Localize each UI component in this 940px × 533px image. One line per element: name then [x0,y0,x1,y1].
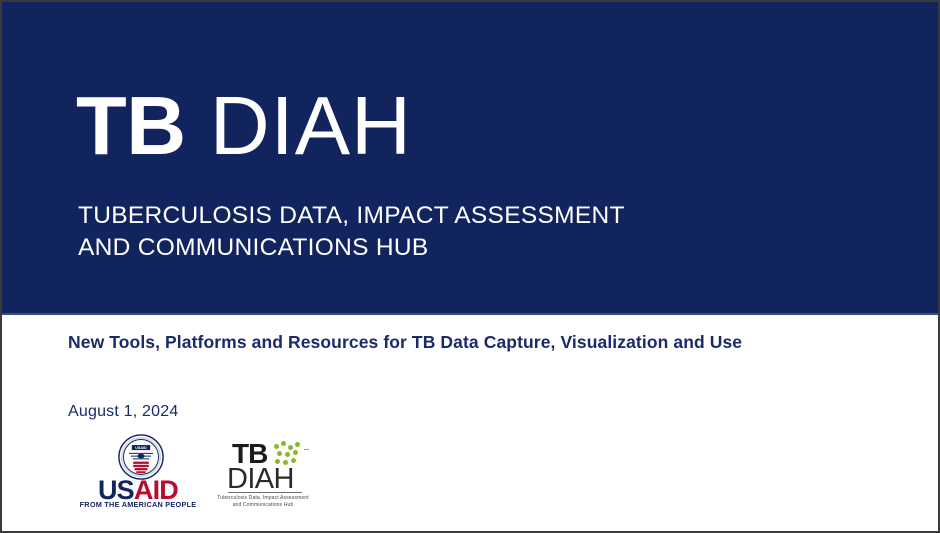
header-band: TB DIAH TUBERCULOSIS DATA, IMPACT ASSESS… [2,2,940,313]
brand-lockup: TB DIAH [76,84,412,167]
tb-diah-rule [228,492,302,493]
presentation-title: New Tools, Platforms and Resources for T… [68,332,742,353]
tb-diah-dash-icon [304,449,309,450]
brand-name-diah: DIAH [186,79,412,172]
usaid-tagline: FROM THE AMERICAN PEOPLE [78,501,198,508]
presentation-date: August 1, 2024 [68,403,178,421]
tb-diah-wordmark-diah: DIAH [227,465,294,494]
brand-subtitle: TUBERCULOSIS DATA, IMPACT ASSESSMENT AND… [78,200,625,265]
logo-row: USAID USAID FROM THE AMERICAN PEOPLE [68,432,328,516]
usaid-seal-icon: USAID [118,434,164,480]
title-slide: TB DIAH TUBERCULOSIS DATA, IMPACT ASSESS… [0,0,940,533]
usaid-logo: USAID USAID FROM THE AMERICAN PEOPLE [78,432,198,514]
brand-name-tb: TB [76,79,186,172]
tb-diah-logo: TB DIAH Tuberculosis Data, Impact Assess… [216,440,316,516]
header-band-divider [2,313,940,315]
svg-text:USAID: USAID [135,446,147,450]
tb-diah-tagline: Tuberculosis Data, Impact Assessment and… [216,495,310,510]
